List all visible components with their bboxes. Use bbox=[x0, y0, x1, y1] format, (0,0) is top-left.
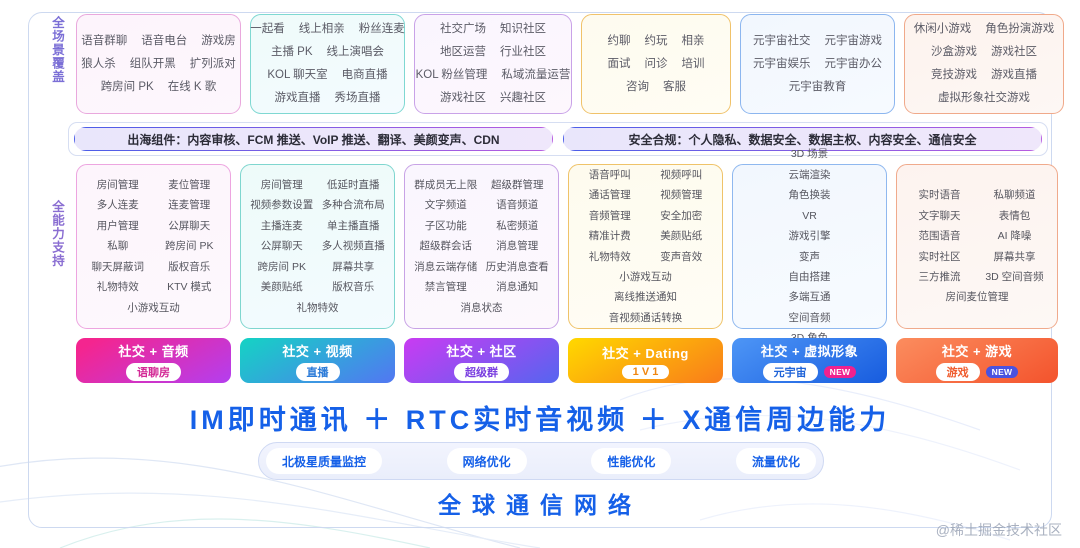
scenario-tag: 兴趣社区 bbox=[500, 87, 546, 110]
scenario-tag: 粉丝连麦 bbox=[359, 18, 405, 41]
scenario-tag-row: 游戏社区兴趣社区 bbox=[440, 87, 546, 110]
ability-tag-row: 公屏聊天多人视频直播 bbox=[246, 236, 389, 256]
main-headline: IM即时通讯 ＋ RTC实时音视频 ＋ X通信周边能力 bbox=[0, 398, 1080, 437]
banner-pill[interactable]: 直播 bbox=[296, 363, 340, 381]
scenario-tag: 语音电台 bbox=[141, 30, 187, 53]
ability-tag: 文字频道 bbox=[410, 195, 482, 215]
scenario-tag: 语音群聊 bbox=[81, 30, 127, 53]
ability-tag-row: 房间管理麦位管理 bbox=[82, 175, 225, 195]
scenario-tag-row: 狼人杀组队开黑扩列派对 bbox=[81, 53, 236, 76]
ability-tag: 消息通知 bbox=[482, 277, 554, 297]
ability-tag: 消息云端存储 bbox=[410, 257, 482, 277]
banner-title: 社交 + 社区 bbox=[446, 341, 516, 360]
scenario-tag-row: 面试问诊培训 bbox=[608, 53, 705, 76]
ability-tag: 美颜贴纸 bbox=[646, 226, 718, 246]
ability-tag: 视频管理 bbox=[646, 185, 718, 205]
scenario-card-audio[interactable]: 语音群聊语音电台游戏房狼人杀组队开黑扩列派对跨房间 PK在线 K 歌 bbox=[76, 14, 241, 114]
scenario-tag: KOL 粉丝管理 bbox=[416, 64, 488, 87]
ability-tag-row: 云端渲染 bbox=[738, 165, 881, 185]
ability-tag: 三方推流 bbox=[902, 267, 977, 287]
scenario-tag: 电商直播 bbox=[342, 64, 388, 87]
ability-tag-row: 游戏引擎 bbox=[738, 226, 881, 246]
banner-game[interactable]: 社交 + 游戏游戏NEW bbox=[896, 338, 1058, 383]
ability-tag: 单主播直播 bbox=[318, 216, 390, 236]
ability-tag: 音频管理 bbox=[574, 206, 646, 226]
ability-tag-row: 超级群会话消息管理 bbox=[410, 236, 553, 256]
bottom-headline: 全球通信网络 bbox=[0, 486, 1080, 520]
ability-tag-row: 空间音频 bbox=[738, 308, 881, 328]
ability-tag: KTV 模式 bbox=[154, 277, 226, 297]
ability-tag: 美颜贴纸 bbox=[246, 277, 318, 297]
banner-title: 社交 + 视频 bbox=[282, 341, 352, 360]
ability-card-video[interactable]: 房间管理低延时直播视频参数设置多种合流布局主播连麦单主播直播公屏聊天多人视频直播… bbox=[240, 164, 395, 329]
ability-tag: AI 降噪 bbox=[977, 226, 1052, 246]
banner-community[interactable]: 社交 + 社区超级群 bbox=[404, 338, 559, 383]
ability-tag-row: 多端互通 bbox=[738, 287, 881, 307]
scenario-tag-row: 竞技游戏游戏直播 bbox=[931, 64, 1037, 87]
ability-tag: 表情包 bbox=[977, 206, 1052, 226]
ability-tag-row: 自由搭建 bbox=[738, 267, 881, 287]
ability-tag: 小游戏互动 bbox=[574, 267, 717, 287]
compliance-strip-overseas-label: 出海组件：内容审核、FCM 推送、VoIP 推送、翻译、美颜变声、CDN bbox=[119, 131, 507, 148]
ability-tag: 变声音效 bbox=[646, 247, 718, 267]
ability-tag: 云端渲染 bbox=[738, 165, 881, 185]
ability-tag: 多人连麦 bbox=[82, 195, 154, 215]
ability-tag: 麦位管理 bbox=[154, 175, 226, 195]
ability-tag: 私聊频道 bbox=[977, 185, 1052, 205]
ability-card-dating[interactable]: 语音呼叫视频呼叫通话管理视频管理音频管理安全加密精准计费美颜贴纸礼物特效变声音效… bbox=[568, 164, 723, 329]
ability-tag: 3D 场景 bbox=[738, 144, 881, 164]
ability-tag: 3D 空间音频 bbox=[977, 267, 1052, 287]
scenario-tag: 私域流量运营 bbox=[501, 64, 570, 87]
scenario-tag-row: 跨房间 PK在线 K 歌 bbox=[101, 76, 217, 99]
ability-tag-row: 子区功能私密频道 bbox=[410, 216, 553, 236]
ability-tag: 群成员无上限 bbox=[410, 175, 482, 195]
ability-tag-row: 文字聊天表情包 bbox=[902, 206, 1052, 226]
ability-tag: 小游戏互动 bbox=[82, 298, 225, 318]
scenario-tag-row: 地区运营行业社区 bbox=[440, 41, 546, 64]
scenario-tag-row: 游戏直播秀场直播 bbox=[275, 87, 381, 110]
scenario-tag-row: 元宇宙教育 bbox=[789, 76, 847, 99]
diagram-stage: 全场景覆盖 全能力支持 语音群聊语音电台游戏房狼人杀组队开黑扩列派对跨房间 PK… bbox=[0, 0, 1080, 548]
scenario-card-metaverse[interactable]: 元宇宙社交元宇宙游戏元宇宙娱乐元宇宙办公元宇宙教育 bbox=[740, 14, 895, 114]
scenario-tag: 跨房间 PK bbox=[101, 76, 154, 99]
ability-tag: 安全加密 bbox=[646, 206, 718, 226]
banner-tag-row: 直播 bbox=[296, 363, 340, 381]
banner-title: 社交 + 音频 bbox=[118, 341, 188, 360]
banner-tag-row: 语聊房 bbox=[126, 363, 181, 381]
ability-tag-row: 音视频通话转换 bbox=[574, 308, 717, 328]
ability-tag-row: 礼物特效变声音效 bbox=[574, 247, 717, 267]
ability-tag: 房间管理 bbox=[246, 175, 318, 195]
ability-tag: 角色换装 bbox=[738, 185, 881, 205]
ability-tag: 历史消息查看 bbox=[482, 257, 554, 277]
ability-tag: 连麦管理 bbox=[154, 195, 226, 215]
banner-tag-row: 超级群 bbox=[454, 363, 509, 381]
ability-tag: 版权音乐 bbox=[318, 277, 390, 297]
ability-tag-row: 视频参数设置多种合流布局 bbox=[246, 195, 389, 215]
scenario-tag: 行业社区 bbox=[500, 41, 546, 64]
ability-tag-row: 小游戏互动 bbox=[574, 267, 717, 287]
ability-card-community[interactable]: 群成员无上限超级群管理文字频道语音频道子区功能私密频道超级群会话消息管理消息云端… bbox=[404, 164, 559, 329]
scenario-tag-row: 一起看线上相亲粉丝连麦 bbox=[250, 18, 405, 41]
ability-tag-row: 范围语音AI 降噪 bbox=[902, 226, 1052, 246]
ability-tag: 子区功能 bbox=[410, 216, 482, 236]
scenario-tag: 元宇宙社交 bbox=[753, 30, 811, 53]
ability-tag: 跨房间 PK bbox=[154, 236, 226, 256]
ability-tag: 文字聊天 bbox=[902, 206, 977, 226]
scenario-card-dating[interactable]: 约聊约玩相亲面试问诊培训咨询客服 bbox=[581, 14, 731, 114]
scenario-tag: 元宇宙办公 bbox=[825, 53, 883, 76]
scenario-tag: 元宇宙游戏 bbox=[825, 30, 883, 53]
ability-tag-row: 语音呼叫视频呼叫 bbox=[574, 165, 717, 185]
ability-tag: 低延时直播 bbox=[318, 175, 390, 195]
scenario-tag-row: 咨询客服 bbox=[626, 76, 686, 99]
ability-tag: 消息状态 bbox=[410, 298, 553, 318]
ability-tag-row: 房间管理低延时直播 bbox=[246, 175, 389, 195]
ability-tag-row: 消息状态 bbox=[410, 298, 553, 318]
scenario-tag: KOL 聊天室 bbox=[267, 64, 327, 87]
ability-tag-row: 私聊跨房间 PK bbox=[82, 236, 225, 256]
scenario-card-video[interactable]: 一起看线上相亲粉丝连麦主播 PK线上演唱会KOL 聊天室电商直播游戏直播秀场直播 bbox=[250, 14, 405, 114]
ability-tag: 实时社区 bbox=[902, 247, 977, 267]
ability-tag: 多种合流布局 bbox=[318, 195, 390, 215]
ability-tag-row: 小游戏互动 bbox=[82, 298, 225, 318]
scenario-tag: 线上相亲 bbox=[299, 18, 345, 41]
watermark: @稀土掘金技术社区 bbox=[936, 520, 1062, 540]
ability-tag-row: 跨房间 PK屏幕共享 bbox=[246, 257, 389, 277]
ability-tag-row: 3D 场景 bbox=[738, 144, 881, 164]
optimization-option-1[interactable]: 网络优化 bbox=[447, 448, 527, 474]
scenario-tag: 相亲 bbox=[682, 30, 705, 53]
ability-tag: 屏幕共享 bbox=[318, 257, 390, 277]
scenario-tag-row: 元宇宙娱乐元宇宙办公 bbox=[753, 53, 882, 76]
banner-row: 社交 + 音频语聊房 社交 + 视频直播 社交 + 社区超级群 社交 + Dat… bbox=[76, 338, 1048, 383]
ability-tag: 消息管理 bbox=[482, 236, 554, 256]
ability-tag: 通话管理 bbox=[574, 185, 646, 205]
scenario-tag: 游戏社区 bbox=[440, 87, 486, 110]
ability-tag-row: 禁言管理消息通知 bbox=[410, 277, 553, 297]
ability-tag: 主播连麦 bbox=[246, 216, 318, 236]
scenario-tag: 一起看 bbox=[250, 18, 285, 41]
banner-title: 社交 + 游戏 bbox=[942, 341, 1012, 360]
scenario-tag-row: KOL 粉丝管理私域流量运营 bbox=[416, 64, 571, 87]
scenario-tag: 元宇宙娱乐 bbox=[753, 53, 811, 76]
banner-dating[interactable]: 社交 + Dating1 V 1 bbox=[568, 338, 723, 383]
ability-card-game[interactable]: 实时语音私聊频道文字聊天表情包范围语音AI 降噪实时社区屏幕共享三方推流3D 空… bbox=[896, 164, 1058, 329]
ability-tag-row: 主播连麦单主播直播 bbox=[246, 216, 389, 236]
scenario-tag: 面试 bbox=[608, 53, 631, 76]
ability-tag-row: 实时语音私聊频道 bbox=[902, 185, 1052, 205]
ability-tag: 礼物特效 bbox=[246, 298, 389, 318]
scenario-tag: 地区运营 bbox=[440, 41, 486, 64]
banner-title: 社交 + Dating bbox=[602, 343, 689, 362]
ability-tag: 实时语音 bbox=[902, 185, 977, 205]
ability-card-audio[interactable]: 房间管理麦位管理多人连麦连麦管理用户管理公屏聊天私聊跨房间 PK聊天屏蔽词版权音… bbox=[76, 164, 231, 329]
ability-tag-row: 三方推流3D 空间音频 bbox=[902, 267, 1052, 287]
scenario-tag: 咨询 bbox=[626, 76, 649, 99]
ability-tag: 变声 bbox=[738, 247, 881, 267]
banner-pill[interactable]: 元宇宙 bbox=[763, 363, 818, 381]
ability-tag: VR bbox=[738, 206, 881, 226]
scenario-tag-row: 主播 PK线上演唱会 bbox=[271, 41, 384, 64]
scenario-row: 语音群聊语音电台游戏房狼人杀组队开黑扩列派对跨房间 PK在线 K 歌 一起看线上… bbox=[76, 14, 1048, 114]
scenario-tag: 角色扮演游戏 bbox=[985, 18, 1054, 41]
ability-tag: 礼物特效 bbox=[82, 277, 154, 297]
ability-tag-row: 消息云端存储历史消息查看 bbox=[410, 257, 553, 277]
scenario-tag: 线上演唱会 bbox=[327, 41, 385, 64]
ability-tag-row: 实时社区屏幕共享 bbox=[902, 247, 1052, 267]
ability-tag: 语音呼叫 bbox=[574, 165, 646, 185]
banner-tag-row: 元宇宙NEW bbox=[763, 363, 857, 381]
banner-video[interactable]: 社交 + 视频直播 bbox=[240, 338, 395, 383]
ability-tag-row: 多人连麦连麦管理 bbox=[82, 195, 225, 215]
ability-tag-row: 房间麦位管理 bbox=[902, 287, 1052, 307]
scenario-tag: 秀场直播 bbox=[335, 87, 381, 110]
scenario-tag: 狼人杀 bbox=[81, 53, 116, 76]
ability-tag: 离线推送通知 bbox=[574, 287, 717, 307]
ability-tag: 语音频道 bbox=[482, 195, 554, 215]
scenario-tag: 组队开黑 bbox=[130, 53, 176, 76]
scenario-tag: 约玩 bbox=[645, 30, 668, 53]
scenario-tag: 游戏直播 bbox=[991, 64, 1037, 87]
scenario-tag: 游戏社区 bbox=[991, 41, 1037, 64]
ability-tag-row: 聊天屏蔽词版权音乐 bbox=[82, 257, 225, 277]
ability-tag: 跨房间 PK bbox=[246, 257, 318, 277]
ability-tag: 范围语音 bbox=[902, 226, 977, 246]
ability-card-metaverse[interactable]: 3D 场景云端渲染角色换装VR游戏引擎变声自由搭建多端互通空间音频3D 角色 bbox=[732, 164, 887, 329]
scenario-tag: 虚拟形象社交游戏 bbox=[938, 87, 1030, 110]
ability-tag-row: 离线推送通知 bbox=[574, 287, 717, 307]
ability-tag-row: 文字频道语音频道 bbox=[410, 195, 553, 215]
scenario-tag: 主播 PK bbox=[271, 41, 313, 64]
scenario-tag: 在线 K 歌 bbox=[168, 76, 217, 99]
scenario-tag: 游戏房 bbox=[201, 30, 236, 53]
ability-tag: 多端互通 bbox=[738, 287, 881, 307]
side-label-ability: 全能力支持 bbox=[44, 200, 66, 268]
ability-tag: 版权音乐 bbox=[154, 257, 226, 277]
banner-metaverse[interactable]: 社交 + 虚拟形象元宇宙NEW bbox=[732, 338, 887, 383]
scenario-card-game[interactable]: 休闲小游戏角色扮演游戏沙盒游戏游戏社区竞技游戏游戏直播虚拟形象社交游戏 bbox=[904, 14, 1064, 114]
ability-tag-row: 礼物特效 bbox=[246, 298, 389, 318]
ability-tag: 私密频道 bbox=[482, 216, 554, 236]
ability-tag: 用户管理 bbox=[82, 216, 154, 236]
ability-tag: 视频参数设置 bbox=[246, 195, 318, 215]
ability-tag-row: 通话管理视频管理 bbox=[574, 185, 717, 205]
optimization-option-2[interactable]: 性能优化 bbox=[591, 448, 671, 474]
ability-tag: 房间麦位管理 bbox=[902, 287, 1052, 307]
scenario-tag: 竞技游戏 bbox=[931, 64, 977, 87]
scenario-tag-row: 休闲小游戏角色扮演游戏 bbox=[914, 18, 1055, 41]
ability-tag: 视频呼叫 bbox=[646, 165, 718, 185]
ability-tag: 公屏聊天 bbox=[154, 216, 226, 236]
banner-pill[interactable]: 游戏 bbox=[936, 363, 980, 381]
new-badge: NEW bbox=[986, 366, 1019, 378]
ability-tag: 多人视频直播 bbox=[318, 236, 390, 256]
scenario-tag-row: KOL 聊天室电商直播 bbox=[267, 64, 387, 87]
ability-tag: 私聊 bbox=[82, 236, 154, 256]
scenario-tag: 游戏直播 bbox=[275, 87, 321, 110]
ability-row: 房间管理麦位管理多人连麦连麦管理用户管理公屏聊天私聊跨房间 PK聊天屏蔽词版权音… bbox=[76, 164, 1048, 329]
ability-tag-row: 角色换装 bbox=[738, 185, 881, 205]
ability-tag: 超级群管理 bbox=[482, 175, 554, 195]
ability-tag-row: 群成员无上限超级群管理 bbox=[410, 175, 553, 195]
scenario-tag-row: 沙盒游戏游戏社区 bbox=[931, 41, 1037, 64]
optimization-option-3[interactable]: 流量优化 bbox=[736, 448, 816, 474]
ability-tag-row: VR bbox=[738, 206, 881, 226]
banner-pill[interactable]: 1 V 1 bbox=[622, 365, 670, 379]
scenario-tag-row: 语音群聊语音电台游戏房 bbox=[81, 30, 236, 53]
ability-tag: 自由搭建 bbox=[738, 267, 881, 287]
banner-tag-row: 1 V 1 bbox=[622, 365, 670, 379]
scenario-tag-row: 约聊约玩相亲 bbox=[608, 30, 705, 53]
compliance-strip-overseas[interactable]: 出海组件：内容审核、FCM 推送、VoIP 推送、翻译、美颜变声、CDN bbox=[74, 127, 553, 151]
ability-tag: 聊天屏蔽词 bbox=[82, 257, 154, 277]
ability-tag-row: 精准计费美颜贴纸 bbox=[574, 226, 717, 246]
banner-title: 社交 + 虚拟形象 bbox=[761, 341, 858, 360]
ability-tag: 游戏引擎 bbox=[738, 226, 881, 246]
ability-tag: 超级群会话 bbox=[410, 236, 482, 256]
scenario-tag-row: 元宇宙社交元宇宙游戏 bbox=[753, 30, 882, 53]
compliance-strip-bar: 出海组件：内容审核、FCM 推送、VoIP 推送、翻译、美颜变声、CDN 安全合… bbox=[68, 122, 1048, 156]
ability-tag: 精准计费 bbox=[574, 226, 646, 246]
scenario-tag: 沙盒游戏 bbox=[931, 41, 977, 64]
optimization-pill-bar: 北极星质量监控网络优化性能优化流量优化 bbox=[258, 442, 824, 480]
scenario-tag: 约聊 bbox=[608, 30, 631, 53]
scenario-tag-row: 虚拟形象社交游戏 bbox=[938, 87, 1030, 110]
banner-audio[interactable]: 社交 + 音频语聊房 bbox=[76, 338, 231, 383]
scenario-tag: 社交广场 bbox=[440, 18, 486, 41]
banner-tag-row: 游戏NEW bbox=[936, 363, 1019, 381]
ability-tag: 公屏聊天 bbox=[246, 236, 318, 256]
new-badge: NEW bbox=[824, 366, 857, 378]
scenario-tag: 休闲小游戏 bbox=[914, 18, 972, 41]
ability-tag: 房间管理 bbox=[82, 175, 154, 195]
ability-tag: 礼物特效 bbox=[574, 247, 646, 267]
scenario-tag: 知识社区 bbox=[500, 18, 546, 41]
scenario-tag: 培训 bbox=[682, 53, 705, 76]
banner-pill[interactable]: 语聊房 bbox=[126, 363, 181, 381]
scenario-tag: 问诊 bbox=[645, 53, 668, 76]
scenario-tag: 客服 bbox=[663, 76, 686, 99]
scenario-tag: 元宇宙教育 bbox=[789, 76, 847, 99]
scenario-tag-row: 社交广场知识社区 bbox=[440, 18, 546, 41]
ability-tag: 空间音频 bbox=[738, 308, 881, 328]
ability-tag: 音视频通话转换 bbox=[574, 308, 717, 328]
ability-tag: 禁言管理 bbox=[410, 277, 482, 297]
banner-pill[interactable]: 超级群 bbox=[454, 363, 509, 381]
ability-tag-row: 音频管理安全加密 bbox=[574, 206, 717, 226]
ability-tag-row: 美颜贴纸版权音乐 bbox=[246, 277, 389, 297]
ability-tag-row: 礼物特效KTV 模式 bbox=[82, 277, 225, 297]
optimization-option-0[interactable]: 北极星质量监控 bbox=[266, 448, 382, 474]
side-label-scene: 全场景覆盖 bbox=[44, 16, 66, 84]
ability-tag-row: 变声 bbox=[738, 247, 881, 267]
ability-tag-row: 用户管理公屏聊天 bbox=[82, 216, 225, 236]
scenario-card-community[interactable]: 社交广场知识社区地区运营行业社区KOL 粉丝管理私域流量运营游戏社区兴趣社区 bbox=[414, 14, 572, 114]
scenario-tag: 扩列派对 bbox=[190, 53, 236, 76]
ability-tag: 屏幕共享 bbox=[977, 247, 1052, 267]
